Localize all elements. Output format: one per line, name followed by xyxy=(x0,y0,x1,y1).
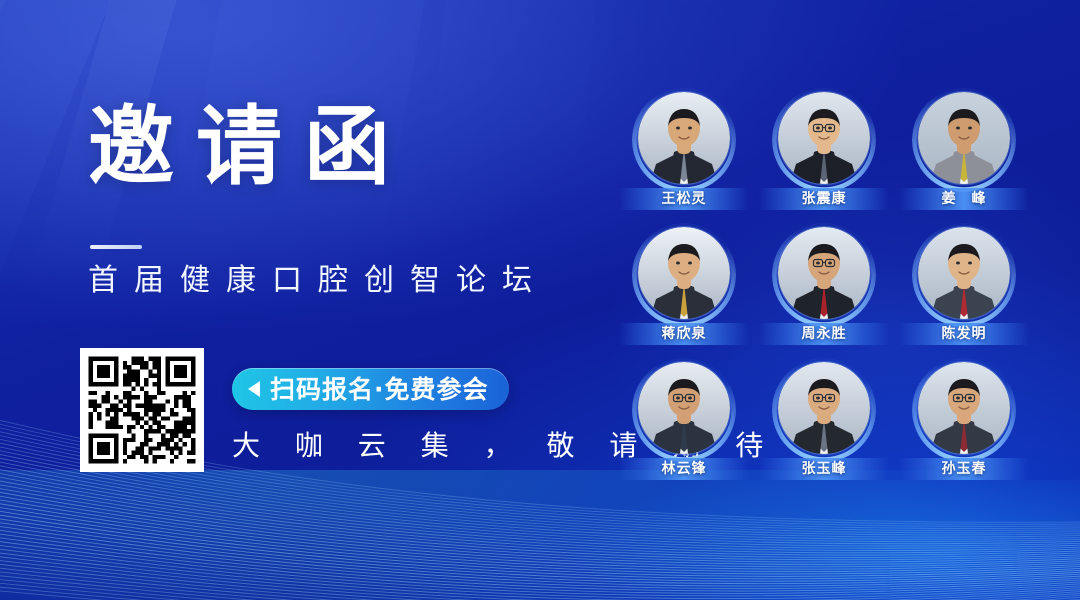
avatar xyxy=(918,227,1010,319)
speaker-name: 张震康 xyxy=(802,192,847,206)
speaker-name: 姜 峰 xyxy=(942,192,987,206)
speaker-card[interactable]: 张震康 xyxy=(754,86,894,221)
speaker-name: 蒋欣泉 xyxy=(662,327,707,341)
avatar xyxy=(918,92,1010,184)
invitation-poster: 邀请函 首届健康口腔创智论坛 扫码报名·免费参会 大 咖 云 集 ， 敬 请 期… xyxy=(0,0,1080,600)
status-badge: 姜 峰 xyxy=(899,188,1029,210)
status-badge: 张玉峰 xyxy=(759,458,889,480)
title-divider xyxy=(90,245,142,249)
event-subtitle: 首届健康口腔创智论坛 xyxy=(88,266,548,296)
left-content-column: 邀请函 首届健康口腔创智论坛 扫码报名·免费参会 大 咖 云 集 ， 敬 请 期… xyxy=(88,0,608,600)
avatar xyxy=(638,92,730,184)
status-badge: 孙玉春 xyxy=(899,458,1029,480)
register-button[interactable]: 扫码报名·免费参会 xyxy=(232,368,509,410)
speaker-card[interactable]: 蒋欣泉 xyxy=(614,221,754,356)
speaker-card[interactable]: 周永胜 xyxy=(754,221,894,356)
page-title: 邀请函 xyxy=(88,104,412,190)
speaker-card[interactable]: 姜 峰 xyxy=(894,86,1034,221)
register-button-label: 扫码报名·免费参会 xyxy=(270,377,489,402)
speaker-name: 王松灵 xyxy=(662,192,707,206)
speaker-card[interactable]: 陈发明 xyxy=(894,221,1034,356)
speaker-name: 周永胜 xyxy=(802,327,847,341)
triangle-left-icon xyxy=(248,381,260,397)
status-badge: 张震康 xyxy=(759,188,889,210)
avatar xyxy=(638,362,730,454)
avatar xyxy=(918,362,1010,454)
speaker-card[interactable]: 张玉峰 xyxy=(754,356,894,491)
avatar xyxy=(778,227,870,319)
speaker-card[interactable]: 林云锋 xyxy=(614,356,754,491)
speaker-card[interactable]: 王松灵 xyxy=(614,86,754,221)
speaker-name: 陈发明 xyxy=(942,327,987,341)
avatar xyxy=(778,362,870,454)
speaker-name: 张玉峰 xyxy=(802,462,847,476)
status-badge: 林云锋 xyxy=(619,458,749,480)
speaker-name: 林云锋 xyxy=(662,462,707,476)
speaker-grid: 王松灵 xyxy=(614,86,1034,491)
speaker-name: 孙玉春 xyxy=(942,462,987,476)
status-badge: 陈发明 xyxy=(899,323,1029,345)
avatar xyxy=(778,92,870,184)
status-badge: 周永胜 xyxy=(759,323,889,345)
speaker-card[interactable]: 孙玉春 xyxy=(894,356,1034,491)
avatar xyxy=(638,227,730,319)
qr-code[interactable] xyxy=(80,348,204,472)
status-badge: 王松灵 xyxy=(619,188,749,210)
status-badge: 蒋欣泉 xyxy=(619,323,749,345)
